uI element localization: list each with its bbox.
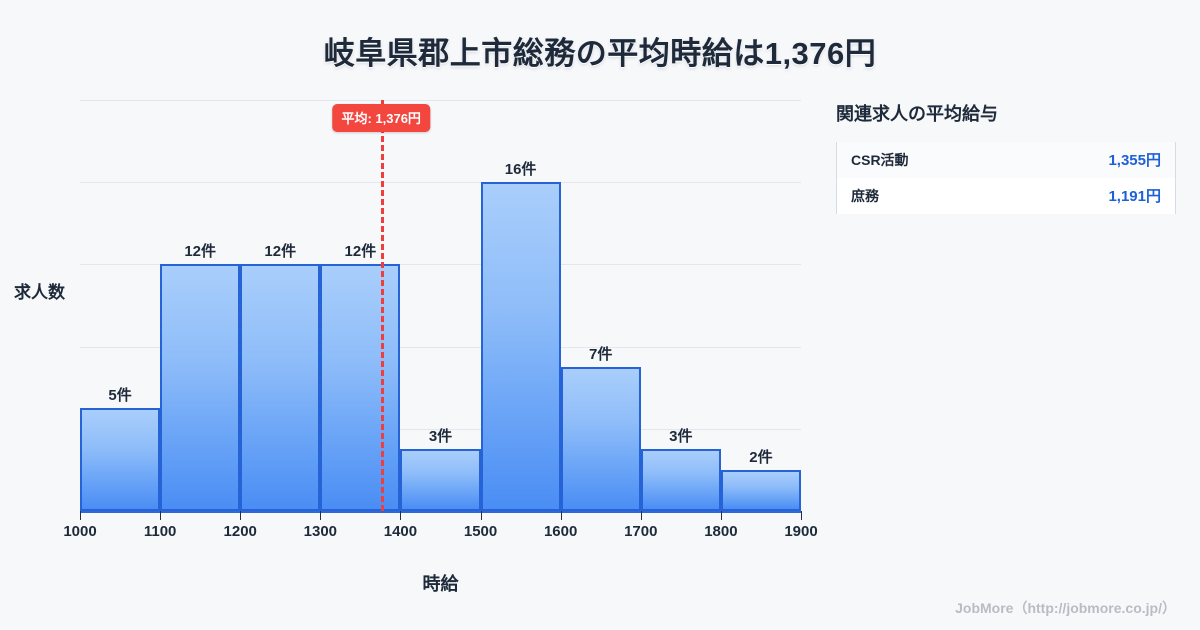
- x-tick-mark: [721, 511, 722, 520]
- x-tick-mark: [80, 511, 81, 520]
- x-tick-label: 1800: [704, 523, 737, 540]
- x-tick-mark: [240, 511, 241, 520]
- footer-watermark: JobMore（http://jobmore.co.jp/）: [955, 598, 1176, 618]
- histogram-bar: [160, 264, 240, 511]
- bar-value-label: 12件: [320, 240, 400, 261]
- x-tick-mark: [801, 511, 802, 520]
- x-tick-label: 1200: [224, 523, 257, 540]
- histogram-bar: [721, 470, 801, 511]
- y-axis-title: 求人数: [14, 278, 65, 303]
- histogram-bar: [641, 449, 721, 511]
- x-tick-mark: [160, 511, 161, 520]
- x-tick-mark: [641, 511, 642, 520]
- related-job-name: CSR活動: [851, 150, 909, 170]
- related-job-row[interactable]: CSR活動1,355円: [837, 142, 1175, 178]
- x-tick-label: 1400: [384, 523, 417, 540]
- related-jobs-title: 関連求人の平均給与: [836, 100, 1176, 126]
- bar-value-label: 3件: [400, 425, 480, 446]
- bar-value-label: 2件: [721, 446, 801, 467]
- x-tick-mark: [320, 511, 321, 520]
- x-tick-mark: [561, 511, 562, 520]
- bar-value-label: 12件: [160, 240, 240, 261]
- page-title: 岐阜県郡上市総務の平均時給は1,376円: [0, 28, 1200, 73]
- average-line: [381, 100, 384, 511]
- average-badge: 平均: 1,376円: [332, 104, 429, 132]
- bar-value-label: 5件: [80, 384, 160, 405]
- x-tick-label: 1700: [624, 523, 657, 540]
- related-job-value: 1,355円: [1108, 149, 1161, 170]
- x-axis-line: [80, 511, 801, 513]
- x-tick-label: 1600: [544, 523, 577, 540]
- bar-value-label: 16件: [481, 158, 561, 179]
- related-job-row[interactable]: 庶務1,191円: [837, 178, 1175, 214]
- x-tick-label: 1300: [304, 523, 337, 540]
- gridline: [80, 182, 801, 183]
- x-tick-label: 1900: [784, 523, 817, 540]
- histogram-bar: [481, 182, 561, 511]
- x-tick-mark: [400, 511, 401, 520]
- related-jobs-panel: 関連求人の平均給与 CSR活動1,355円庶務1,191円: [836, 100, 1176, 214]
- histogram-bar: [240, 264, 320, 511]
- x-tick-label: 1000: [63, 523, 96, 540]
- related-job-name: 庶務: [851, 186, 879, 206]
- histogram-bar: [400, 449, 480, 511]
- histogram-bar: [320, 264, 400, 511]
- bar-value-label: 12件: [240, 240, 320, 261]
- bar-value-label: 3件: [641, 425, 721, 446]
- gridline: [80, 100, 801, 101]
- bar-value-label: 7件: [561, 343, 641, 364]
- histogram-bar: [80, 408, 160, 511]
- related-jobs-table: CSR活動1,355円庶務1,191円: [836, 142, 1176, 214]
- x-tick-mark: [481, 511, 482, 520]
- x-axis-title: 時給: [80, 570, 801, 596]
- x-tick-label: 1100: [144, 523, 177, 540]
- related-job-value: 1,191円: [1108, 185, 1161, 206]
- x-tick-label: 1500: [464, 523, 497, 540]
- histogram-bar: [561, 367, 641, 511]
